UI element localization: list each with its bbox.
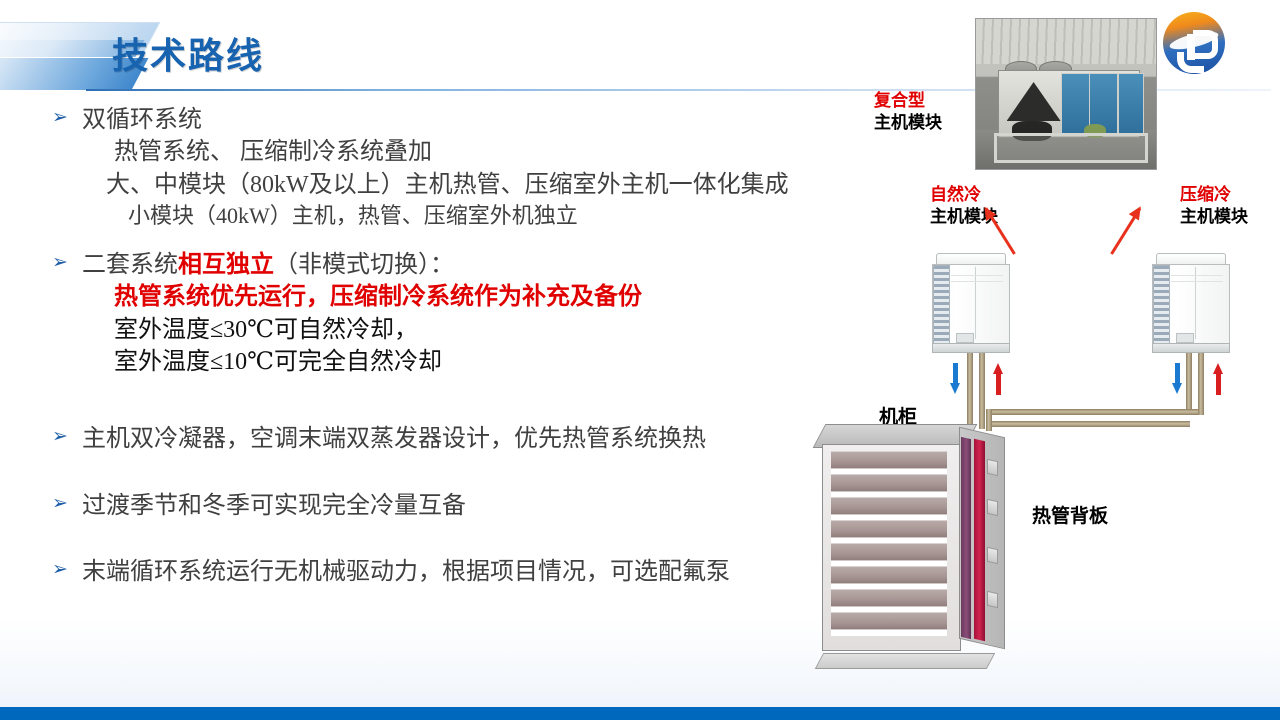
server-cabinet (815, 424, 1015, 669)
cabinet-shelf (831, 589, 947, 607)
outdoor-unit-natural-cooling (932, 253, 1008, 353)
arrow-stem (1175, 363, 1180, 385)
pipe-horizontal-lower (990, 421, 1190, 427)
cabinet-shelf (831, 497, 947, 515)
odu-door-line (1171, 281, 1223, 282)
bullet-marker-icon: ➢ (52, 556, 82, 582)
pipe-right-riser-a (1186, 353, 1192, 415)
company-logo (1163, 12, 1225, 74)
bullet-line-part: 二套系统 (82, 252, 178, 278)
odu-base (1152, 343, 1230, 353)
pipe-right-riser-b (1198, 353, 1204, 415)
bullet-line: 小模块（40kW）主机，热管、压缩室外机独立 (82, 201, 789, 231)
decoration-parallelogram-inner (0, 62, 77, 88)
arrow-stem (996, 373, 1001, 395)
bullet-line: 热管系统、 压缩制冷系统叠加 (82, 136, 789, 168)
pipe-left-riser-a (967, 353, 973, 429)
bullet-marker-icon: ➢ (52, 423, 82, 449)
bullet-two-independent-systems: ➢ 二套系统相互独立（非模式切换）： 热管系统优先运行，压缩制冷系统作为补充及备… (52, 249, 642, 379)
cabinet-connector (987, 591, 998, 609)
bullet-line: 室外温度≤30℃可自然冷却， (82, 314, 642, 346)
bullet-text-block: 双循环系统 热管系统、 压缩制冷系统叠加 大、中模块（80kW及以上）主机热管、… (82, 104, 789, 231)
bullet-dual-loop-system: ➢ 双循环系统 热管系统、 压缩制冷系统叠加 大、中模块（80kW及以上）主机热… (52, 104, 789, 231)
cabinet-shelf (831, 612, 947, 630)
bullet-terminal-loop: ➢ 末端循环系统运行无机械驱动力，根据项目情况，可选配氟泵 (52, 556, 730, 588)
label-composite-module: 复合型 主机模块 (874, 90, 942, 134)
bullet-seasonal-backup: ➢ 过渡季节和冬季可实现完全冷量互备 (52, 490, 466, 522)
arrow-stem (953, 363, 958, 385)
bullet-line: 过渡季节和冬季可实现完全冷量互备 (82, 490, 466, 522)
bullet-line-mixed: 二套系统相互独立（非模式切换）： (82, 249, 642, 281)
odu-panel-seam (1195, 267, 1196, 339)
odu-door-line (1171, 275, 1223, 276)
cabinet-connector (987, 547, 998, 565)
bullet-line-part: （非模式切换）： (274, 252, 454, 278)
cabinet-shelf (831, 474, 947, 492)
page-title: 技术路线 (112, 27, 264, 79)
photo-blue-panel (1118, 73, 1143, 135)
heatpipe-panel-red (974, 439, 985, 642)
odu-door-line (951, 275, 1003, 276)
bullet-marker-icon: ➢ (52, 249, 82, 275)
label-compressor-cooling-module: 压缩冷 主机模块 (1180, 184, 1248, 228)
merge-arrow-right-icon (1110, 207, 1141, 254)
pipe-horizontal-upper (986, 409, 1198, 415)
photo-base-frame (994, 133, 1148, 163)
label-composite-title: 复合型 (874, 90, 942, 112)
label-natural-cooling-title: 自然冷 (930, 184, 998, 206)
arrow-head (1172, 383, 1182, 394)
bullet-marker-icon: ➢ (52, 490, 82, 516)
arrow-head (993, 363, 1003, 374)
cabinet-shelf (831, 520, 947, 538)
bullet-text-block: 末端循环系统运行无机械驱动力，根据项目情况，可选配氟泵 (82, 556, 730, 588)
bullet-text-block: 过渡季节和冬季可实现完全冷量互备 (82, 490, 466, 522)
bullet-text-block: 二套系统相互独立（非模式切换）： 热管系统优先运行，压缩制冷系统作为补充及备份 … (82, 249, 642, 379)
cabinet-base (815, 653, 996, 669)
photo-ceiling (976, 19, 1156, 64)
bullet-line: 主机双冷凝器，空调末端双蒸发器设计，优先热管系统换热 (82, 423, 706, 455)
cabinet-shelf (831, 566, 947, 584)
bullet-dual-condenser: ➢ 主机双冷凝器，空调末端双蒸发器设计，优先热管系统换热 (52, 423, 706, 455)
odu-coil-grill (1153, 265, 1170, 347)
odu-coil-grill (933, 265, 950, 347)
pipe-left-riser-b (979, 353, 985, 429)
label-compressor-cooling-title: 压缩冷 (1180, 184, 1248, 206)
arrow-head (1213, 363, 1223, 374)
label-compressor-cooling-sub: 主机模块 (1180, 206, 1248, 228)
bullet-line: 大、中模块（80kW及以上）主机热管、压缩室外主机一体化集成 (82, 169, 789, 201)
label-composite-sub: 主机模块 (874, 112, 942, 134)
odu-door-line (951, 281, 1003, 282)
arrow-head (950, 383, 960, 394)
cabinet-shelf (831, 543, 947, 561)
cabinet-shelf (831, 451, 947, 469)
odu-vent (956, 333, 974, 343)
outdoor-unit-compressor-cooling (1152, 253, 1228, 353)
cabinet-connector (987, 459, 998, 477)
footer-bar (0, 707, 1280, 720)
bullet-line: 双循环系统 (82, 104, 789, 136)
heatpipe-panel-purple (961, 437, 971, 639)
label-heatpipe-backplane: 热管背板 (1032, 505, 1108, 529)
bullet-line-emphasis: 相互独立 (178, 252, 274, 278)
merge-arrow-left-icon (985, 207, 1016, 254)
odu-panel-seam (975, 267, 976, 339)
odu-base (932, 343, 1010, 353)
cabinet-connector (987, 499, 998, 517)
cabinet-shelf-gap (831, 629, 947, 636)
bullet-marker-icon: ➢ (52, 104, 82, 130)
bullet-line: 热管系统优先运行，压缩制冷系统作为补充及备份 (82, 281, 642, 313)
slide-canvas: 技术路线 ➢ 双循环系统 热管系统、 压缩制冷系统叠加 大、中模块（80kW及以… (0, 0, 1280, 720)
bullet-line: 室外温度≤10℃可完全自然冷却 (82, 346, 642, 378)
bullet-line: 末端循环系统运行无机械驱动力，根据项目情况，可选配氟泵 (82, 556, 730, 588)
bullet-text-block: 主机双冷凝器，空调末端双蒸发器设计，优先热管系统换热 (82, 423, 706, 455)
odu-vent (1176, 333, 1194, 343)
cabinet-body (822, 444, 961, 651)
arrow-stem (1216, 373, 1221, 395)
logo-letter-bowl (1193, 30, 1218, 59)
chiller-photo (975, 18, 1157, 170)
